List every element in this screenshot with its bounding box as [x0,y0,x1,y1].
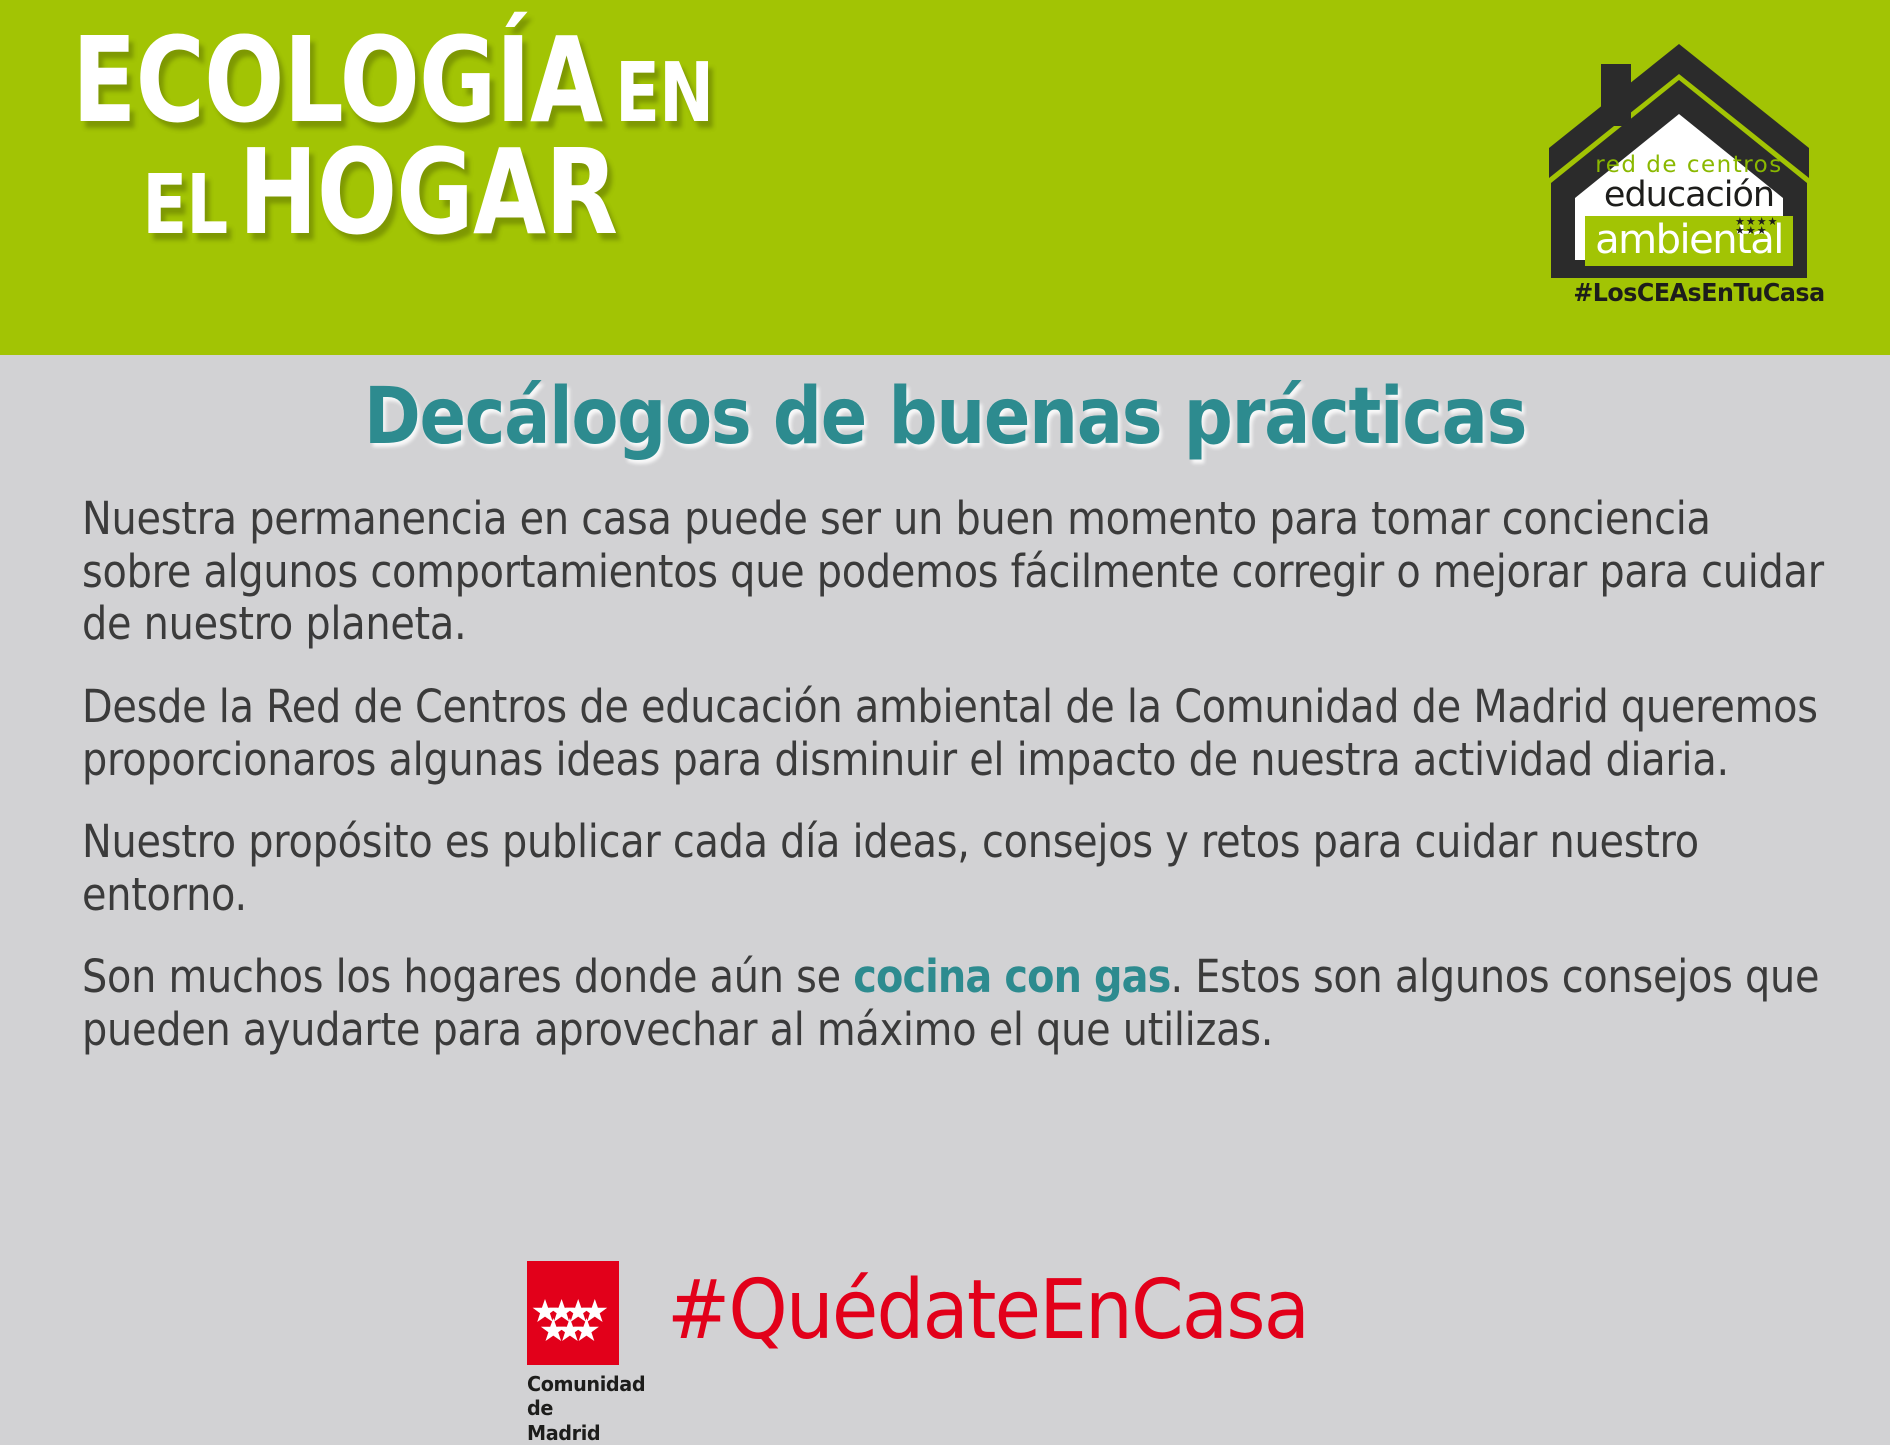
section-heading: Decálogos de buenas prácticas [113,372,1776,462]
paragraph-1: Nuestra permanencia en casa puede ser un… [82,493,1825,651]
madrid-stars-icon [527,1261,619,1365]
poster-title: ECOLOGÍAEN ELHOGAR [72,26,972,247]
cea-logo-hashtag: #LosCEAsEnTuCasa [1547,278,1851,307]
comunidad-de-madrid-logo: Comunidad de Madrid [527,1261,631,1445]
poster-title-line-2: ELHOGAR [72,138,792,248]
cea-house-logo: red de centros educación ambiental ★★★★★… [1539,28,1859,328]
header-green-band: ECOLOGÍAEN ELHOGAR red de centros educac… [0,0,1890,355]
body-copy: Nuestra permanencia en casa puede ser un… [82,493,1832,1057]
madrid-flag-icon [527,1261,619,1365]
poster-title-word-el: EL [142,158,227,253]
madrid-name-line-1: Comunidad [527,1372,627,1396]
paragraph-2: Desde la Red de Centros de educación amb… [82,681,1825,786]
cea-logo-madrid-stars-icon: ★★★★★★★ [1735,218,1778,236]
paragraph-4: Son muchos los hogares donde aún se coci… [82,951,1825,1056]
footer: Comunidad de Madrid #QuédateEnCasa [0,1245,1890,1417]
poster-title-line-1: ECOLOGÍAEN [72,26,792,136]
poster-title-word-hogar: HOGAR [239,123,617,261]
comunidad-de-madrid-name: Comunidad de Madrid [527,1372,627,1445]
madrid-name-line-2: de Madrid [527,1396,627,1445]
poster-title-word-en: EN [615,46,713,141]
paragraph-4-before: Son muchos los hogares donde aún se [82,950,853,1003]
quedate-en-casa-hashtag: #QuédateEnCasa [667,1263,1308,1358]
paragraph-4-highlight: cocina con gas [853,950,1170,1003]
paragraph-3: Nuestro propósito es publicar cada día i… [82,816,1825,921]
cea-logo-line-educacion: educación [1585,178,1793,213]
